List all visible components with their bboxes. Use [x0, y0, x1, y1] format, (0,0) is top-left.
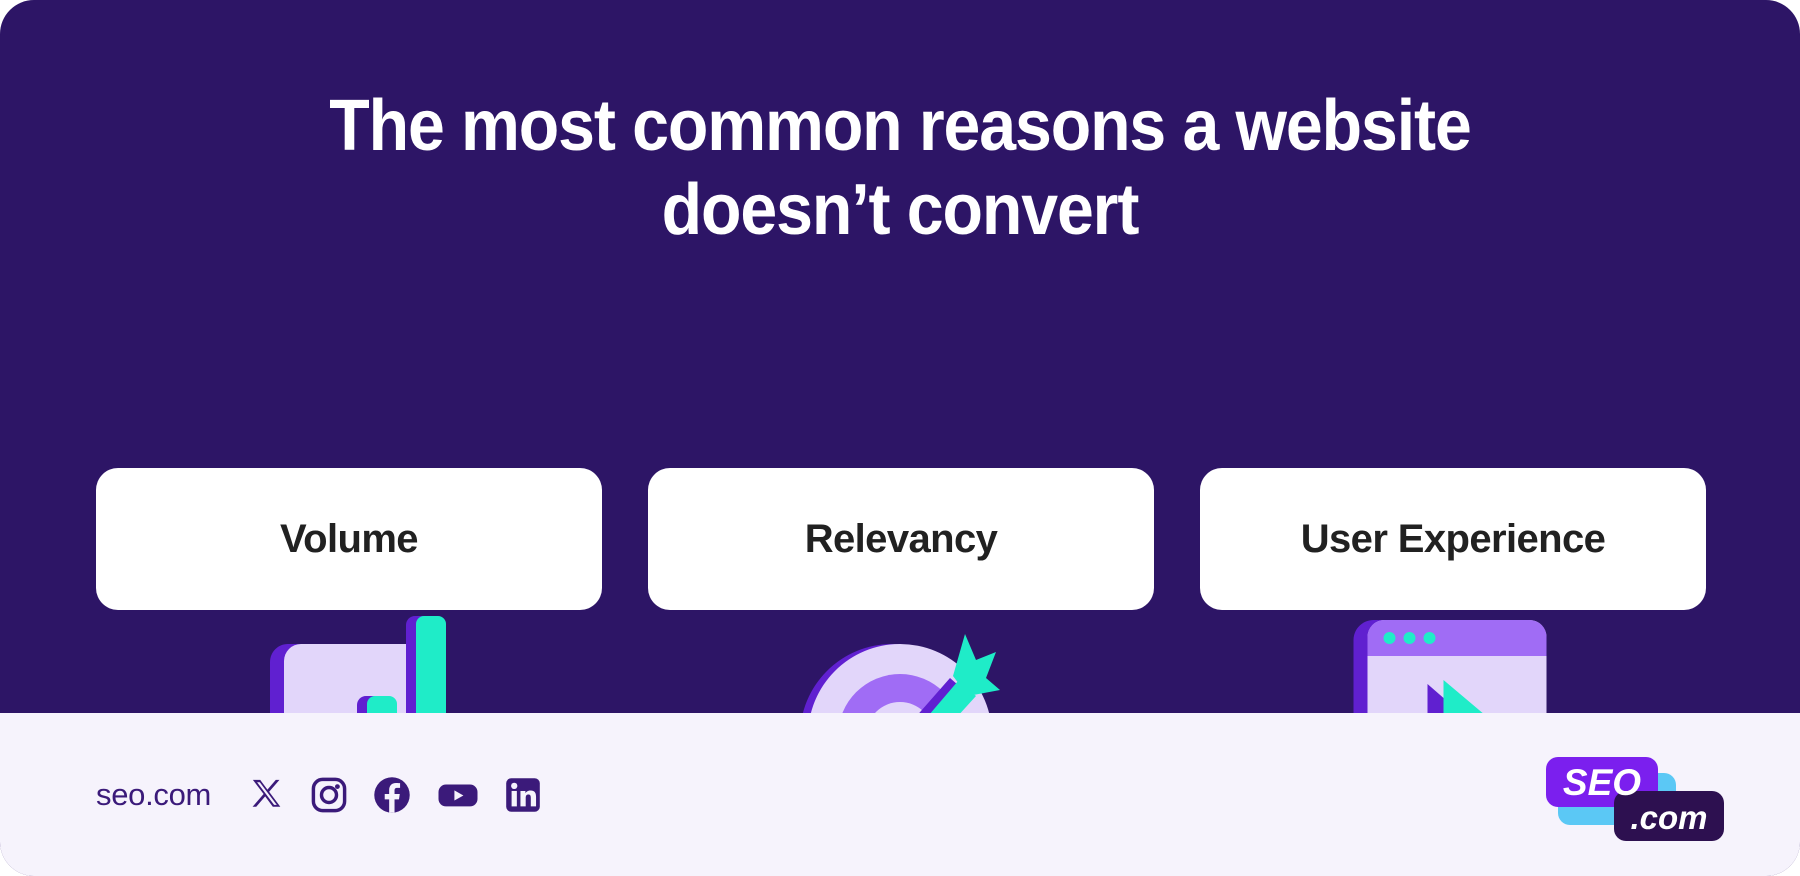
footer-links: seo.com — [96, 774, 541, 816]
facebook-icon[interactable] — [373, 776, 411, 814]
card-user-experience[interactable]: User Experience — [1200, 468, 1706, 610]
page-title: The most common reasons a website doesn’… — [72, 84, 1728, 252]
card-volume[interactable]: Volume — [96, 468, 602, 610]
footer-brand-text: seo.com — [96, 777, 211, 813]
logo-seo-text: SEO — [1563, 762, 1641, 803]
title-block: The most common reasons a website doesn’… — [0, 84, 1800, 252]
instagram-icon[interactable] — [311, 777, 347, 813]
card-label-relevancy: Relevancy — [805, 517, 998, 562]
card-row: Volume Relevancy User Experience — [96, 468, 1706, 610]
linkedin-icon[interactable] — [505, 777, 541, 813]
x-twitter-icon[interactable] — [251, 778, 285, 812]
youtube-icon[interactable] — [437, 774, 479, 816]
footer-bar: seo.com — [0, 713, 1800, 876]
logo-com-text: .com — [1630, 799, 1707, 836]
seo-com-logo[interactable]: SEO .com — [1544, 747, 1726, 843]
infographic-canvas: The most common reasons a website doesn’… — [0, 0, 1800, 876]
card-label-volume: Volume — [280, 517, 418, 562]
card-relevancy[interactable]: Relevancy — [648, 468, 1154, 610]
card-label-user-experience: User Experience — [1301, 517, 1606, 562]
